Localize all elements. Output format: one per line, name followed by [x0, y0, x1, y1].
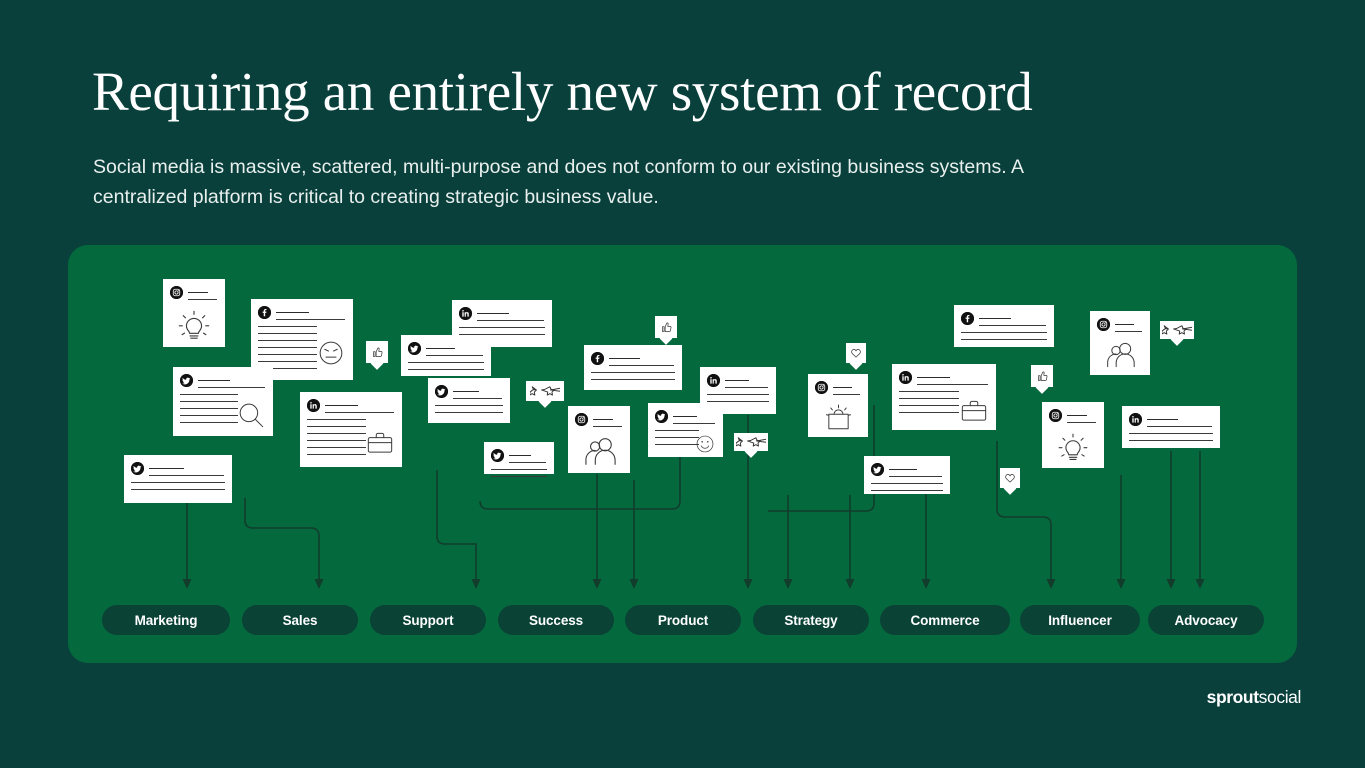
card-twitter-mid-a	[401, 335, 491, 376]
team-pill-label: Sales	[283, 613, 318, 628]
team-pill-label: Success	[529, 613, 583, 628]
bubble-stars-left	[526, 381, 564, 401]
card-body-line	[180, 401, 238, 402]
team-pill-sales[interactable]: Sales	[242, 605, 358, 635]
card-body-line	[435, 405, 503, 406]
card-subtitle-line	[477, 320, 544, 321]
card-instagram-idea	[163, 279, 225, 347]
card-body-line	[307, 419, 366, 420]
people-icon	[1105, 340, 1135, 370]
card-subtitle-line	[325, 412, 394, 413]
card-subtitle-line	[188, 299, 217, 300]
card-subtitle-line	[149, 475, 224, 476]
card-title-line	[673, 416, 697, 417]
card-body-line	[899, 398, 959, 399]
card-body-line	[180, 415, 238, 416]
card-body-line	[591, 379, 675, 380]
card-title-line	[453, 391, 479, 392]
card-body-line	[180, 422, 238, 423]
linkedin-icon	[707, 374, 720, 387]
twitter-icon	[491, 449, 504, 462]
card-subtitle-line	[276, 319, 345, 320]
card-body-line	[871, 483, 943, 484]
card-twitter-search	[173, 367, 273, 436]
card-subtitle-line	[979, 325, 1046, 326]
linkedin-icon	[459, 307, 472, 320]
neutral-face-icon	[316, 338, 346, 368]
card-title-line	[1115, 324, 1134, 325]
card-body-line	[131, 489, 225, 490]
card-body-line	[258, 354, 317, 355]
instagram-icon	[170, 286, 183, 299]
instagram-icon	[815, 381, 828, 394]
twitter-icon	[180, 374, 193, 387]
team-pill-label: Commerce	[911, 613, 980, 628]
card-body-line	[307, 433, 366, 434]
card-subtitle-line	[1115, 331, 1142, 332]
smiley-icon	[694, 433, 716, 455]
card-subtitle-line	[833, 394, 860, 395]
card-body-line	[707, 394, 769, 395]
card-body-line	[1129, 440, 1213, 441]
card-instagram-bulb-r	[1042, 402, 1104, 468]
card-linkedin-case-big	[892, 364, 996, 430]
twitter-icon	[435, 385, 448, 398]
bubble-thumbs-up-right	[1031, 365, 1053, 387]
card-subtitle-line	[1067, 422, 1096, 423]
card-title-line	[917, 377, 950, 378]
card-body-line	[1129, 433, 1213, 434]
card-subtitle-line	[426, 355, 483, 356]
card-subtitle-line	[725, 387, 768, 388]
team-pill-strategy[interactable]: Strategy	[753, 605, 869, 635]
twitter-icon	[131, 462, 144, 475]
card-body-line	[307, 426, 366, 427]
card-twitter-plain-left	[124, 455, 232, 503]
card-title-line	[325, 405, 358, 406]
card-body-line	[899, 405, 959, 406]
card-subtitle-line	[1147, 426, 1212, 427]
team-pill-label: Support	[402, 613, 453, 628]
card-twitter-mid-b	[428, 378, 510, 423]
card-title-line	[889, 469, 917, 470]
card-linkedin-far-right	[1122, 406, 1220, 448]
team-pill-influencer[interactable]: Influencer	[1020, 605, 1140, 635]
card-body-line	[180, 408, 238, 409]
card-body-line	[258, 333, 317, 334]
card-title-line	[1067, 415, 1087, 416]
diagram-panel: MarketingSalesSupportSuccessProductStrat…	[68, 245, 1297, 663]
card-body-line	[899, 391, 959, 392]
card-title-line	[426, 348, 455, 349]
card-title-line	[833, 387, 852, 388]
twitter-icon	[655, 410, 668, 423]
card-instagram-bag	[808, 374, 868, 437]
team-pill-label: Advocacy	[1175, 613, 1238, 628]
card-instagram-people-r	[1090, 311, 1150, 375]
bubble-thumbs-up-mid	[655, 316, 677, 338]
card-subtitle-line	[453, 398, 502, 399]
sprout-social-logo: sproutsocial	[1207, 687, 1301, 708]
card-body-line	[491, 476, 547, 477]
team-pill-product[interactable]: Product	[625, 605, 741, 635]
page-title: Requiring an entirely new system of reco…	[92, 62, 1032, 123]
card-title-line	[725, 380, 749, 381]
bubble-heart-right	[1000, 468, 1020, 488]
card-body-line	[961, 332, 1047, 333]
briefcase-icon	[959, 396, 989, 426]
card-title-line	[198, 380, 230, 381]
card-title-line	[149, 468, 184, 469]
card-body-line	[258, 326, 317, 327]
team-pill-label: Marketing	[135, 613, 198, 628]
bubble-stars-mid	[734, 433, 768, 451]
bubble-thumbs-up-left	[366, 341, 388, 363]
bubble-stars-far-right	[1160, 321, 1194, 339]
card-title-line	[609, 358, 640, 359]
bubble-heart-left	[846, 343, 866, 363]
card-body-line	[408, 369, 484, 370]
card-title-line	[593, 419, 613, 420]
card-body-line	[307, 440, 366, 441]
team-pill-label: Strategy	[784, 613, 837, 628]
team-pill-success[interactable]: Success	[498, 605, 614, 635]
card-facebook-right-top	[954, 305, 1054, 347]
instagram-icon	[1097, 318, 1110, 331]
card-subtitle-line	[673, 423, 715, 424]
card-twitter-small	[484, 442, 554, 474]
shopping-bag-icon	[824, 403, 853, 432]
card-body-line	[871, 490, 943, 491]
team-pill-advocacy[interactable]: Advocacy	[1148, 605, 1264, 635]
team-pill-support[interactable]: Support	[370, 605, 486, 635]
people-icon	[583, 435, 616, 468]
card-title-line	[188, 292, 208, 293]
team-pill-commerce[interactable]: Commerce	[880, 605, 1010, 635]
card-title-line	[1147, 419, 1178, 420]
lightbulb-icon	[1057, 431, 1089, 463]
card-twitter-smiley	[648, 403, 723, 457]
facebook-icon	[258, 306, 271, 319]
card-body-line	[707, 401, 769, 402]
card-subtitle-line	[889, 476, 942, 477]
card-title-line	[477, 313, 509, 314]
card-body-line	[258, 347, 317, 348]
lightbulb-icon	[177, 308, 211, 342]
card-body-line	[307, 454, 366, 455]
card-body-line	[655, 444, 699, 445]
linkedin-icon	[307, 399, 320, 412]
team-pill-label: Product	[658, 613, 708, 628]
card-body-line	[961, 339, 1047, 340]
linkedin-icon	[1129, 413, 1142, 426]
card-body-line	[131, 482, 225, 483]
card-body-line	[459, 327, 545, 328]
card-body-line	[408, 362, 484, 363]
team-pill-marketing[interactable]: Marketing	[102, 605, 230, 635]
card-subtitle-line	[509, 462, 546, 463]
card-body-line	[655, 430, 699, 431]
card-body-line	[258, 340, 317, 341]
card-body-line	[307, 447, 366, 448]
twitter-icon	[408, 342, 421, 355]
card-subtitle-line	[593, 426, 622, 427]
linkedin-icon	[899, 371, 912, 384]
facebook-icon	[591, 352, 604, 365]
instagram-icon	[1049, 409, 1062, 422]
card-body-line	[180, 394, 238, 395]
card-linkedin-briefcase	[300, 392, 402, 467]
card-body-line	[258, 361, 317, 362]
page-subtitle: Social media is massive, scattered, mult…	[93, 152, 1073, 212]
logo-brand-bold: sprout	[1207, 687, 1259, 707]
logo-brand-light: social	[1259, 687, 1301, 707]
card-body-line	[591, 372, 675, 373]
card-title-line	[979, 318, 1011, 319]
card-body-line	[435, 412, 503, 413]
card-subtitle-line	[609, 365, 674, 366]
card-body-line	[491, 469, 547, 470]
card-body-line	[655, 437, 699, 438]
card-subtitle-line	[917, 384, 988, 385]
card-twitter-lower	[864, 456, 950, 494]
slide-root: Requiring an entirely new system of reco…	[0, 0, 1365, 768]
facebook-icon	[961, 312, 974, 325]
card-title-line	[276, 312, 309, 313]
twitter-icon	[871, 463, 884, 476]
magnifier-icon	[236, 400, 266, 430]
card-subtitle-line	[198, 387, 265, 388]
card-body-line	[899, 412, 959, 413]
team-pill-label: Influencer	[1048, 613, 1112, 628]
briefcase-icon	[365, 428, 395, 458]
card-facebook-mid	[584, 345, 682, 390]
card-instagram-people	[568, 406, 630, 473]
instagram-icon	[575, 413, 588, 426]
card-title-line	[509, 455, 531, 456]
